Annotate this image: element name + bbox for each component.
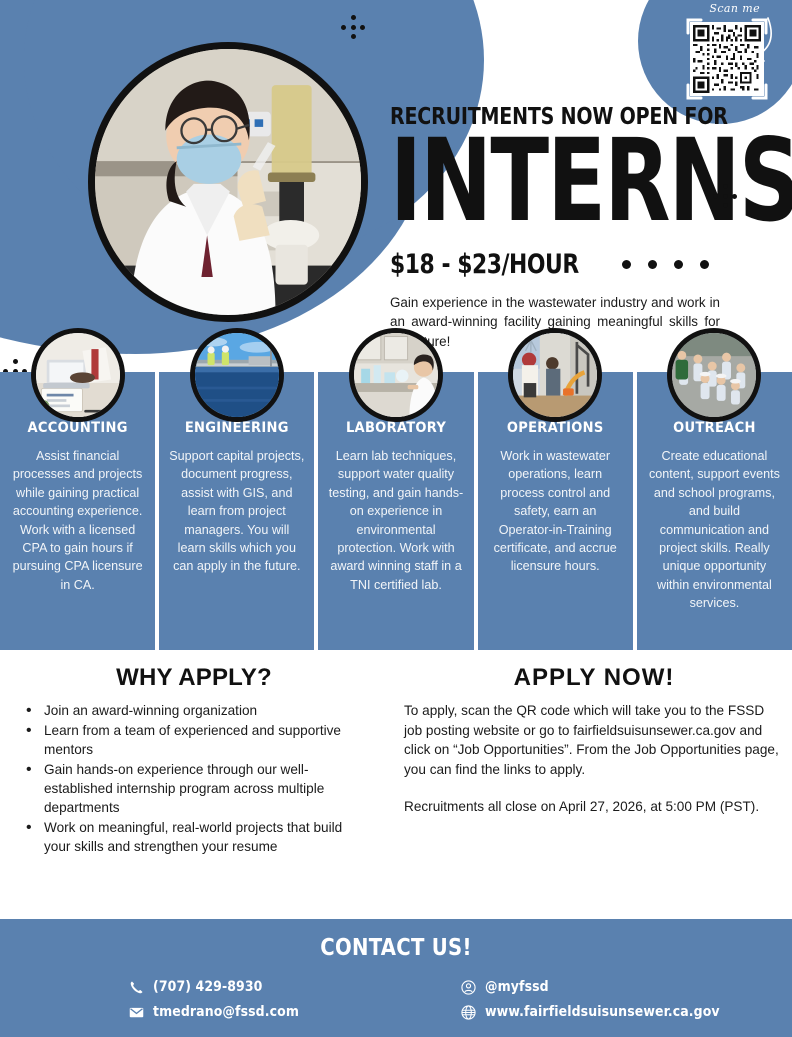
lab-technician-illustration	[95, 49, 361, 315]
phone-icon	[128, 979, 144, 995]
list-item: Work on meaningful, real-world projects …	[22, 818, 372, 856]
department-body: Learn lab techniques, support water qual…	[328, 447, 463, 594]
accounting-desk-illustration	[36, 333, 120, 417]
department-title: OPERATIONS	[488, 420, 623, 436]
info-section: WHY APPLY? Join an award-winning organiz…	[0, 650, 792, 850]
department-title: ENGINEERING	[169, 420, 304, 436]
hourly-rate: $18 - $23/HOUR	[390, 249, 579, 280]
department-card-accounting[interactable]: ACCOUNTING Assist financial processes an…	[0, 372, 155, 650]
hero-section: Scan me	[0, 0, 792, 372]
department-body: Support capital projects, document progr…	[169, 447, 304, 576]
hero-headline: INTERNS	[390, 132, 740, 230]
contact-heading: CONTACT US!	[20, 935, 772, 961]
globe-icon	[460, 1004, 476, 1020]
contact-column-right: @myfssd www.fairfieldsuisunsewer.ca.gov	[438, 979, 748, 1029]
department-body: Work in wastewater operations, learn pro…	[488, 447, 623, 576]
dot-cluster-decoration	[2, 358, 28, 372]
department-card-engineering[interactable]: ENGINEERING Support capital projects, do…	[159, 372, 314, 650]
laboratory-bench-illustration	[354, 333, 438, 417]
department-card-operations[interactable]: OPERATIONS Work in wastewater operations…	[478, 372, 633, 650]
social-handle-icon	[460, 979, 476, 995]
contact-phone-row[interactable]: (707) 429-8930	[128, 979, 438, 995]
department-title: ACCOUNTING	[10, 420, 145, 436]
outreach-group-illustration	[672, 333, 756, 417]
why-apply-heading: WHY APPLY?	[16, 664, 372, 692]
engineering-photo	[190, 328, 284, 422]
apply-deadline: Recruitments all close on April 27, 2026…	[404, 797, 784, 817]
contact-social-row[interactable]: @myfssd	[460, 979, 748, 995]
department-body: Assist financial processes and projects …	[10, 447, 145, 594]
laboratory-photo	[349, 328, 443, 422]
department-card-strip: ACCOUNTING Assist financial processes an…	[0, 372, 792, 650]
contact-grid: (707) 429-8930 tmedrano@fssd.com @myfssd	[0, 979, 792, 1029]
why-apply-column: WHY APPLY? Join an award-winning organiz…	[0, 664, 396, 850]
engineering-basin-illustration	[195, 333, 279, 417]
department-card-outreach[interactable]: OUTREACH Create educational content, sup…	[637, 372, 792, 650]
dot-cluster-decoration	[340, 14, 366, 40]
operations-field-illustration	[513, 333, 597, 417]
department-title: OUTREACH	[647, 420, 782, 436]
contact-footer: CONTACT US! (707) 429-8930 tmedrano@fssd…	[0, 919, 792, 1037]
department-card-laboratory[interactable]: LABORATORY Learn lab techniques, support…	[318, 372, 473, 650]
department-body: Create educational content, support even…	[647, 447, 782, 612]
accounting-photo	[31, 328, 125, 422]
rate-row: $18 - $23/HOUR	[390, 249, 770, 280]
outreach-photo	[667, 328, 761, 422]
email-address: tmedrano@fssd.com	[153, 1004, 299, 1020]
qr-code-icon[interactable]	[690, 22, 764, 96]
apply-now-column: APPLY NOW! To apply, scan the QR code wh…	[396, 664, 792, 850]
apply-now-heading: APPLY NOW!	[404, 664, 784, 692]
department-title: LABORATORY	[328, 420, 463, 436]
operations-photo	[508, 328, 602, 422]
list-item: Learn from a team of experienced and sup…	[22, 721, 372, 759]
hero-photo	[88, 42, 368, 322]
qr-code-matrix	[693, 25, 761, 93]
hero-text-block: RECRUITMENTS NOW OPEN FOR INTERNS $18 - …	[390, 104, 770, 351]
social-handle: @myfssd	[485, 979, 549, 995]
envelope-icon	[128, 1004, 144, 1020]
contact-column-left: (707) 429-8930 tmedrano@fssd.com	[128, 979, 438, 1029]
contact-email-row[interactable]: tmedrano@fssd.com	[128, 1004, 438, 1020]
rate-dot-decoration	[622, 260, 709, 269]
list-item: Join an award-winning organization	[22, 701, 372, 720]
website-url: www.fairfieldsuisunsewer.ca.gov	[485, 1004, 720, 1020]
apply-instructions: To apply, scan the QR code which will ta…	[404, 701, 784, 780]
why-apply-list: Join an award-winning organization Learn…	[16, 701, 372, 856]
recruitment-flyer: Scan me	[0, 0, 792, 1037]
phone-number: (707) 429-8930	[153, 979, 262, 995]
dot-cluster-decoration	[712, 183, 738, 209]
contact-website-row[interactable]: www.fairfieldsuisunsewer.ca.gov	[460, 1004, 748, 1020]
list-item: Gain hands-on experience through our wel…	[22, 760, 372, 817]
